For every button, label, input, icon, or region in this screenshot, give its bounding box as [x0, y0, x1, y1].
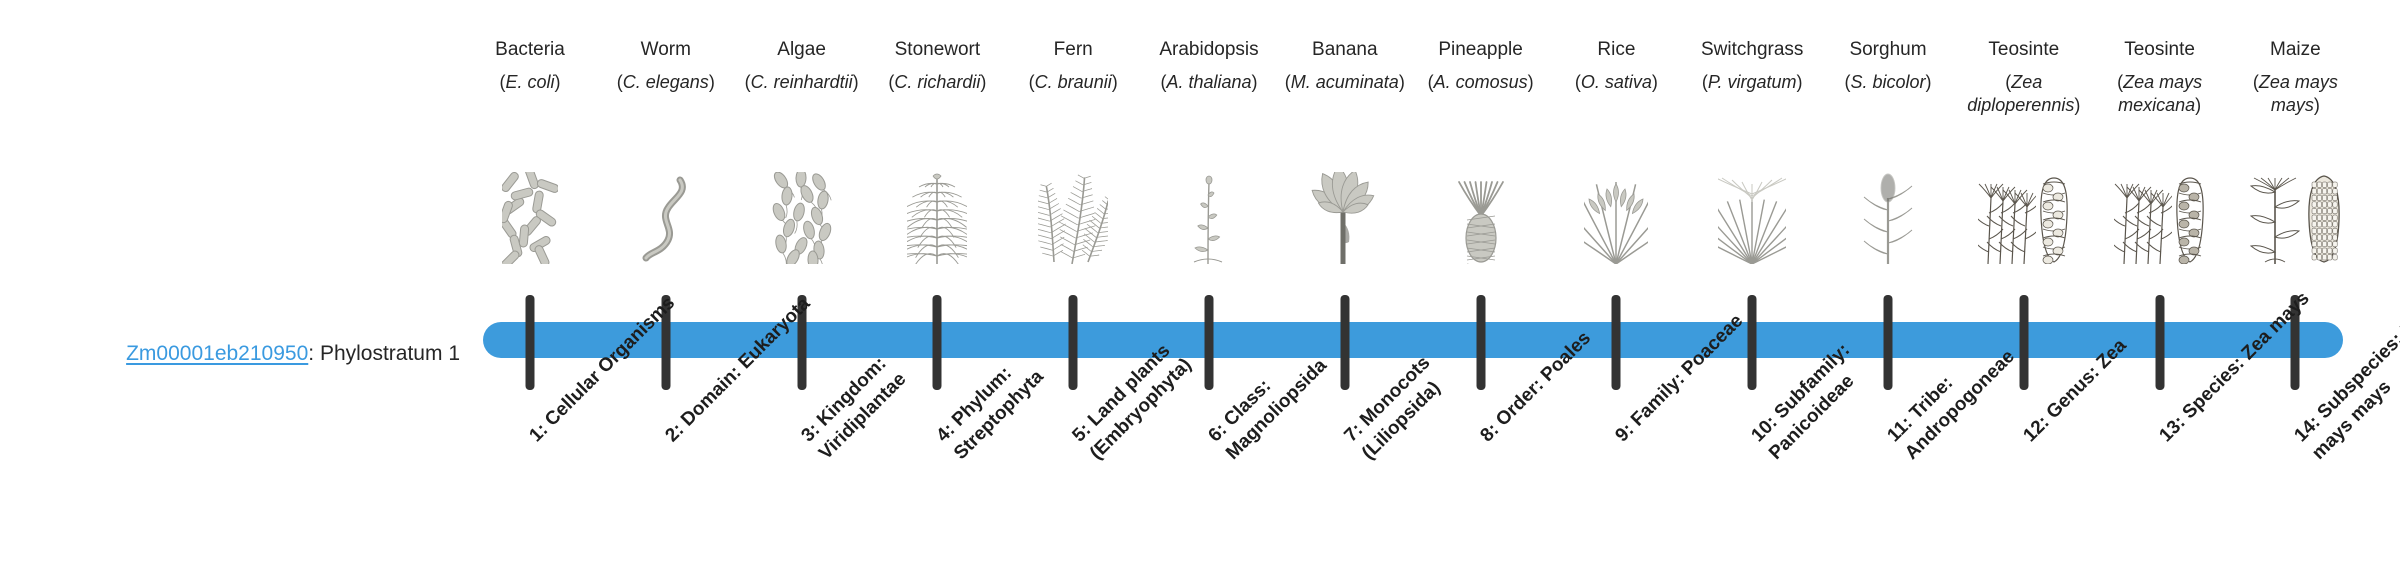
- fern-icon: [1038, 172, 1108, 264]
- rank-text: Tribe: Andropogoneae: [1901, 346, 2019, 464]
- teosinte-diploperennis-icon: [1978, 172, 2070, 264]
- species-column: Switchgrass(P. virgatum): [1686, 38, 1818, 94]
- species-column: Sorghum(S. bicolor): [1822, 38, 1954, 94]
- species-common-name: Teosinte: [2094, 38, 2226, 62]
- switchgrass-icon: [1718, 172, 1786, 264]
- species-common-name: Worm: [600, 38, 732, 62]
- stonewort-icon: [907, 172, 967, 264]
- species-latin-name: (P. virgatum): [1686, 71, 1818, 94]
- algae-icon: [771, 172, 833, 264]
- arabidopsis-icon: [1178, 172, 1240, 264]
- banana-icon: [1309, 172, 1381, 264]
- gene-label-separator: :: [308, 342, 320, 365]
- gene-phylostratum-label: Zm00001eb210950: Phylostratum 1: [30, 340, 460, 368]
- species-common-name: Stonewort: [871, 38, 1003, 62]
- species-column: Bacteria(E. coli): [464, 38, 596, 94]
- bacteria-icon: [502, 172, 558, 264]
- rank-text: Kingdom: Viridiplantae: [813, 353, 910, 464]
- phylostratum-value: Phylostratum 1: [320, 342, 460, 365]
- species-latin-name: (C. braunii): [1007, 71, 1139, 94]
- phylostratum-figure: Zm00001eb210950: Phylostratum 1 Bacteria…: [0, 0, 2400, 580]
- species-latin-name: (C. reinhardtii): [736, 71, 868, 94]
- species-column: Fern(C. braunii): [1007, 38, 1139, 94]
- species-common-name: Maize: [2229, 38, 2361, 62]
- species-common-name: Bacteria: [464, 38, 596, 62]
- phylostratum-tick[interactable]: [526, 295, 535, 390]
- maize-icon: [2247, 172, 2343, 264]
- species-common-name: Teosinte: [1958, 38, 2090, 62]
- species-common-name: Banana: [1279, 38, 1411, 62]
- species-latin-name: (Zea mays mays): [2229, 71, 2361, 117]
- rank-text: Class: Magnoliopsida: [1220, 355, 1331, 464]
- species-latin-name: (C. richardii): [871, 71, 1003, 94]
- species-column: Stonewort(C. richardii): [871, 38, 1003, 94]
- species-latin-name: (O. sativa): [1550, 71, 1682, 94]
- gene-id-link[interactable]: Zm00001eb210950: [126, 342, 308, 365]
- species-column: Pineapple(A. comosus): [1415, 38, 1547, 94]
- species-latin-name: (A. thaliana): [1143, 71, 1275, 94]
- species-common-name: Rice: [1550, 38, 1682, 62]
- species-latin-name: (Zea mays mexicana): [2094, 71, 2226, 117]
- species-latin-name: (S. bicolor): [1822, 71, 1954, 94]
- species-column: Arabidopsis(A. thaliana): [1143, 38, 1275, 94]
- rice-icon: [1584, 172, 1648, 264]
- species-column: Teosinte(Zea mays mexicana): [2094, 38, 2226, 117]
- species-common-name: Sorghum: [1822, 38, 1954, 62]
- species-column: Maize(Zea mays mays): [2229, 38, 2361, 117]
- species-column: Algae(C. reinhardtii): [736, 38, 868, 94]
- species-common-name: Pineapple: [1415, 38, 1547, 62]
- species-common-name: Fern: [1007, 38, 1139, 62]
- rank-text: Cellular Organisms: [541, 293, 679, 431]
- rank-text: Land plants (Embryophyta): [1084, 340, 1196, 464]
- species-latin-name: (C. elegans): [600, 71, 732, 94]
- rank-text: Monocots (Liliopsida): [1356, 352, 1444, 464]
- species-column: Banana(M. acuminata): [1279, 38, 1411, 94]
- pineapple-icon: [1451, 172, 1511, 264]
- species-column: Rice(O. sativa): [1550, 38, 1682, 94]
- sorghum-icon: [1856, 172, 1920, 264]
- species-column: Teosinte(Zea diploperennis): [1958, 38, 2090, 117]
- rank-text: Domain: Eukaryota: [677, 293, 814, 430]
- species-column: Worm(C. elegans): [600, 38, 732, 94]
- species-common-name: Algae: [736, 38, 868, 62]
- species-latin-name: (M. acuminata): [1279, 71, 1411, 94]
- species-latin-name: (A. comosus): [1415, 71, 1547, 94]
- worm-icon: [634, 172, 698, 264]
- teosinte-mexicana-icon: [2114, 172, 2206, 264]
- species-common-name: Arabidopsis: [1143, 38, 1275, 62]
- rank-text: Subfamily: Panicoideae: [1765, 340, 1858, 464]
- rank-text: Phylum: Streptophyta: [948, 363, 1048, 464]
- species-latin-name: (Zea diploperennis): [1958, 71, 2090, 117]
- species-common-name: Switchgrass: [1686, 38, 1818, 62]
- species-latin-name: (E. coli): [464, 71, 596, 94]
